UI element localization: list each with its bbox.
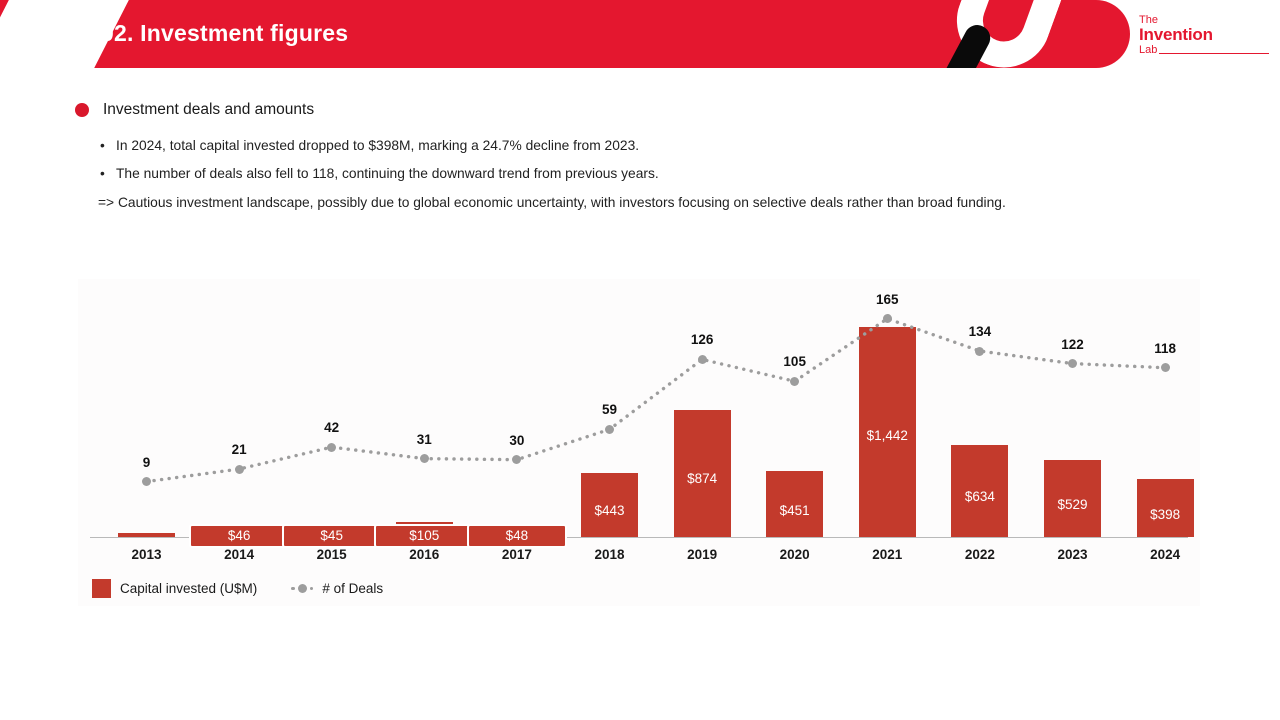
list-item: • The number of deals also fell to 118, … (100, 164, 1230, 183)
slide-header: 02. Investment figures (0, 0, 1280, 68)
deals-point-2020[interactable] (790, 377, 799, 386)
logo-line-lab: Lab (1139, 44, 1157, 57)
deals-point-2016[interactable] (420, 454, 429, 463)
deals-value-label-2024: 118 (1119, 341, 1211, 356)
deals-value-label-2021: 165 (841, 292, 933, 307)
logo-line-lab-row: Lab (1139, 44, 1269, 57)
deals-value-label-2023: 122 (1027, 337, 1119, 352)
chart-panel: $46$45$105$48$443$874$451$1,442$634$529$… (78, 279, 1200, 606)
deals-value-label-2022: 134 (934, 324, 1026, 339)
deals-value-label-2015: 42 (286, 420, 378, 435)
deals-value-label-2018: 59 (564, 402, 656, 417)
legend-label-deals: # of Deals (322, 581, 383, 596)
legend-item-deals[interactable]: # of Deals (291, 581, 383, 596)
deals-point-2015[interactable] (327, 443, 336, 452)
legend-line-marker-icon (291, 584, 313, 593)
deals-value-label-2020: 105 (749, 354, 841, 369)
deals-point-2024[interactable] (1161, 363, 1170, 372)
deals-value-label-2013: 9 (101, 455, 193, 470)
page-title: 02. Investment figures (101, 20, 348, 47)
deals-value-label-2019: 126 (656, 332, 748, 347)
chart-legend: Capital invested (U$M) # of Deals (92, 579, 383, 598)
deals-point-2022[interactable] (975, 347, 984, 356)
list-item: • In 2024, total capital invested droppe… (100, 136, 1230, 155)
deals-value-label-2014: 21 (193, 442, 285, 457)
deals-value-label-2017: 30 (471, 433, 563, 448)
chart-plot-area: $46$45$105$48$443$874$451$1,442$634$529$… (78, 279, 1200, 606)
conclusion-text: => Cautious investment landscape, possib… (98, 193, 1230, 212)
legend-bar-swatch-icon (92, 579, 111, 598)
section-heading: Investment deals and amounts (75, 101, 314, 119)
legend-item-capital-invested[interactable]: Capital invested (U$M) (92, 579, 257, 598)
deals-point-2021[interactable] (883, 314, 892, 323)
deals-point-2019[interactable] (698, 355, 707, 364)
bullet-marker-icon: • (100, 136, 116, 155)
deals-point-2018[interactable] (605, 425, 614, 434)
logo: The Invention Lab (1139, 14, 1269, 57)
deals-value-label-2016: 31 (378, 432, 470, 447)
section-title: Investment deals and amounts (103, 101, 314, 119)
list-item-text: In 2024, total capital invested dropped … (116, 136, 639, 155)
bullet-marker-icon: • (100, 164, 116, 183)
logo-line-invention: Invention (1139, 26, 1269, 44)
logo-underline-rule (1159, 53, 1269, 55)
slide: 02. Investment figures The Invention Lab… (0, 0, 1280, 720)
list-item-text: The number of deals also fell to 118, co… (116, 164, 659, 183)
bullet-list: • In 2024, total capital invested droppe… (100, 136, 1230, 212)
deals-point-2014[interactable] (235, 465, 244, 474)
legend-label-capital-invested: Capital invested (U$M) (120, 581, 257, 596)
deals-point-2023[interactable] (1068, 359, 1077, 368)
bullet-dot-icon (75, 103, 89, 117)
